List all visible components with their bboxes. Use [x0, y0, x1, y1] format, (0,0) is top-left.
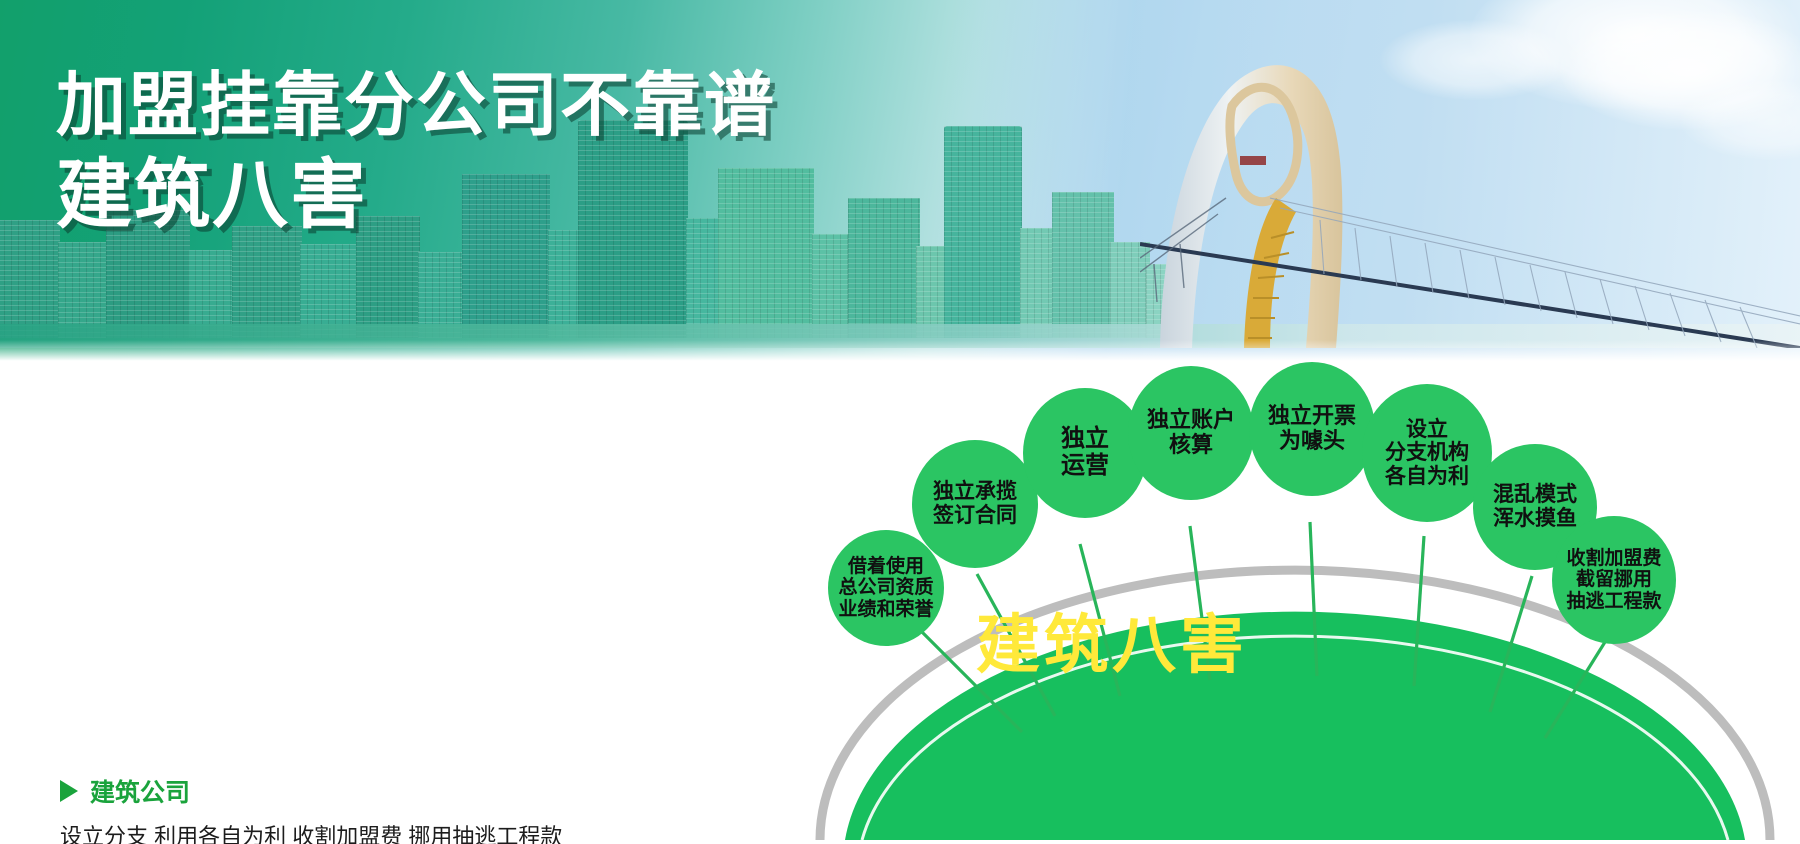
bubble-line: 借着使用	[848, 556, 924, 577]
left-content: 建筑公司 设立分支 利用各自为利 收割加盟费 挪用抽逃工程款 给合作者带来资金损…	[0, 366, 900, 844]
bubble-harvest-franchise-fee[interactable]: 收割加盟费 截留挪用 抽逃工程款	[1552, 516, 1676, 644]
bubble-line: 截留挪用	[1576, 569, 1652, 590]
section-body-construction-company: 设立分支 利用各自为利 收割加盟费 挪用抽逃工程款 给合作者带来资金损失 借着债…	[60, 821, 562, 844]
banner-title-line2: 建筑八害	[56, 148, 776, 244]
bubble-line: 核算	[1169, 433, 1213, 458]
poster-root: 加盟挂靠分公司不靠谱 建筑八害 建筑公司 设立分支 利用各自为利 收割加盟费 挪…	[0, 0, 1800, 844]
bubble-independent-account[interactable]: 独立账户 核算	[1128, 366, 1254, 500]
bubble-line: 独立	[1061, 426, 1109, 453]
bubble-line: 浑水摸鱼	[1493, 507, 1577, 531]
bubble-independent-contracting[interactable]: 独立承揽 签订合同	[912, 440, 1038, 568]
bubble-line: 抽逃工程款	[1566, 591, 1661, 612]
bubble-line: 签订合同	[933, 504, 1017, 528]
bubble-line: 业绩和荣誉	[838, 599, 933, 620]
bubble-line: 收割加盟费	[1566, 548, 1661, 569]
bubble-line: 总公司资质	[838, 577, 933, 598]
bubble-borrow-parent-qualification[interactable]: 借着使用 总公司资质 业绩和荣誉	[828, 530, 944, 646]
bubble-line: 运营	[1061, 453, 1109, 480]
eight-harms-diagram: 借着使用 总公司资质 业绩和荣誉 独立承揽 签订合同 独立 运营 独立账户 核算…	[790, 344, 1800, 844]
bubble-line: 为噱头	[1279, 429, 1345, 454]
bridge-pylon-icon	[1140, 48, 1800, 348]
section-heading-construction-company: 建筑公司	[60, 773, 190, 809]
bubble-line: 各自为利	[1385, 465, 1469, 489]
bubble-line: 分支机构	[1385, 441, 1469, 465]
banner-title: 加盟挂靠分公司不靠谱 建筑八害	[56, 62, 776, 244]
banner-title-line1: 加盟挂靠分公司不靠谱	[56, 62, 776, 148]
bubble-independent-operation[interactable]: 独立 运营	[1023, 388, 1147, 518]
heading-text: 建筑公司	[90, 773, 190, 809]
bubble-line: 设立	[1406, 418, 1448, 442]
triangle-bullet-icon	[60, 780, 78, 802]
bubble-line: 独立承揽	[933, 480, 1017, 504]
bubble-line: 独立账户	[1147, 408, 1235, 433]
hero-banner: 加盟挂靠分公司不靠谱 建筑八害	[0, 0, 1800, 366]
bubble-line: 混乱模式	[1493, 483, 1577, 507]
body-line: 设立分支 利用各自为利 收割加盟费 挪用抽逃工程款	[60, 824, 562, 844]
dome-center-label: 建筑八害	[976, 594, 1248, 686]
bubble-independent-invoicing[interactable]: 独立开票 为噱头	[1249, 362, 1375, 496]
bubble-line: 独立开票	[1268, 404, 1356, 429]
